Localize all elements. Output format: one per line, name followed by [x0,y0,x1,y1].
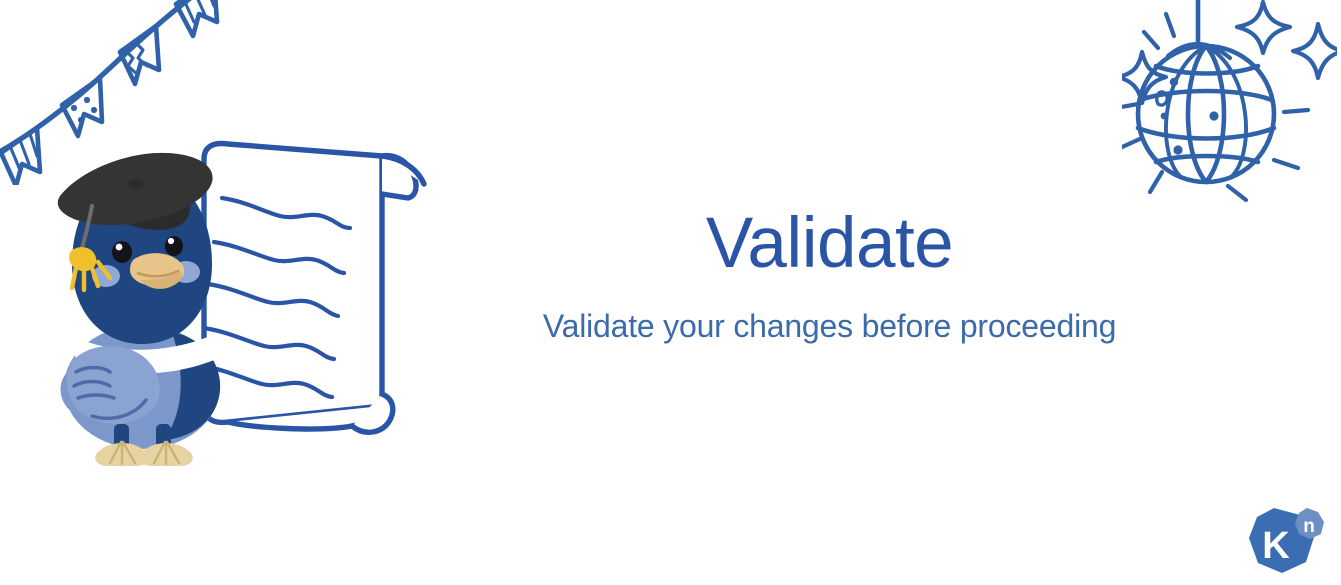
certificate-scroll [202,144,424,433]
logo-letter-n: n [1303,516,1315,537]
hero-text-block: Validate Validate your changes before pr… [478,206,1181,345]
page-subtitle: Validate your changes before proceeding [478,308,1181,345]
graduate-bird-mascot [58,153,220,466]
kn-logo[interactable]: K n [1244,505,1326,579]
disco-ball-decoration [1122,0,1337,226]
logo-letter-k: K [1262,525,1290,567]
hero-illustration [52,132,467,477]
page-title: Validate [478,206,1181,281]
bird-eye-left [112,241,132,263]
bird-eye-right [165,236,183,256]
slide-canvas: Validate Validate your changes before pr… [0,0,1341,585]
